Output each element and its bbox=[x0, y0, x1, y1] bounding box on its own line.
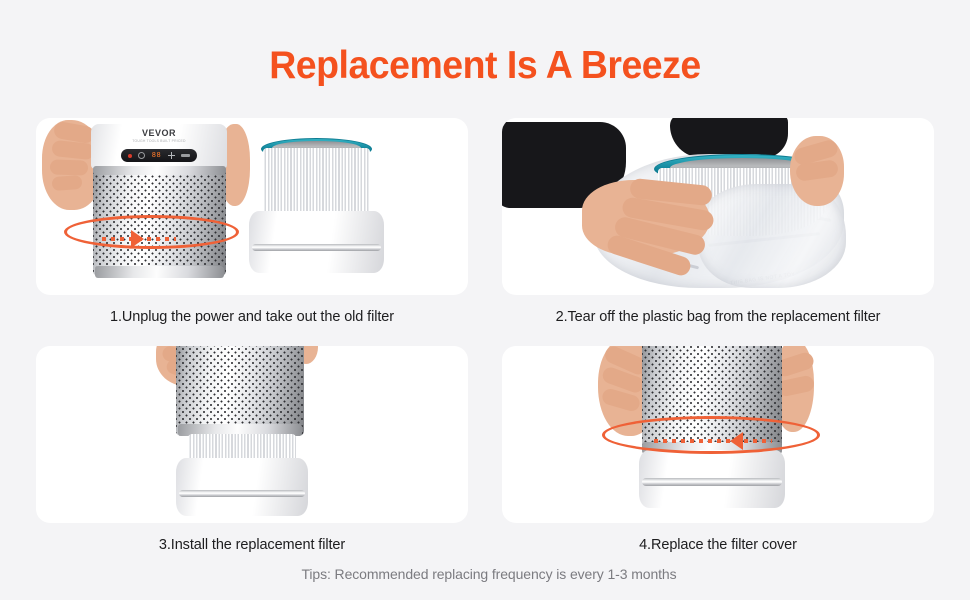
control-panel[interactable]: 88 bbox=[121, 149, 197, 162]
tips-text: Tips: Recommended replacing frequency is… bbox=[293, 566, 676, 582]
infographic-page: Replacement Is A Breeze VEVOR bbox=[0, 0, 970, 600]
step-3-caption: 3.Install the replacement filter bbox=[36, 537, 468, 553]
display-value: 88 bbox=[152, 152, 161, 159]
mesh-top-band bbox=[93, 166, 226, 175]
step-1-photo: VEVOR TOUGH TOOLS BUILT PRICED 88 bbox=[36, 118, 468, 295]
purifier-removal-scene: VEVOR TOUGH TOOLS BUILT PRICED 88 bbox=[36, 118, 468, 295]
base-chrome-ring bbox=[179, 490, 305, 497]
rotation-ellipse bbox=[602, 416, 820, 454]
base-chrome-ring bbox=[642, 478, 782, 486]
cover-rotation-scene bbox=[502, 346, 934, 523]
step-4-photo bbox=[502, 346, 934, 523]
rotation-ellipse bbox=[64, 215, 239, 249]
step-2-caption: 2.Tear off the plastic bag from the repl… bbox=[502, 309, 934, 325]
mesh-bottom-band bbox=[95, 266, 224, 278]
step-2: THIS BAG IS NOT A TOY bbox=[502, 118, 934, 325]
finger bbox=[50, 159, 89, 175]
step-1: VEVOR TOUGH TOOLS BUILT PRICED 88 bbox=[36, 118, 468, 325]
bag-removal-scene: THIS BAG IS NOT A TOY bbox=[502, 118, 934, 295]
step-4-caption: 4.Replace the filter cover bbox=[502, 537, 934, 553]
brand-tagline: TOUGH TOOLS BUILT PRICED bbox=[91, 140, 227, 143]
finger bbox=[52, 175, 83, 191]
filter-base bbox=[176, 458, 308, 516]
power-button-icon[interactable] bbox=[138, 152, 145, 159]
step-3-photo bbox=[36, 346, 468, 523]
rotation-arrow-icon bbox=[730, 432, 743, 450]
perforated-metal-cover bbox=[176, 346, 304, 436]
filter-install-scene bbox=[36, 346, 468, 523]
tips-note: Tips: Recommended replacing frequency is… bbox=[0, 566, 970, 582]
page-title: Replacement Is A Breeze bbox=[19, 44, 950, 88]
step-4: 4.Replace the filter cover bbox=[502, 346, 934, 553]
increase-icon[interactable] bbox=[168, 152, 175, 159]
decrease-icon[interactable] bbox=[181, 154, 190, 157]
rotation-dotted-line bbox=[654, 439, 772, 443]
step-2-photo: THIS BAG IS NOT A TOY bbox=[502, 118, 934, 295]
brand-logo: VEVOR bbox=[91, 129, 227, 138]
right-sleeve bbox=[670, 118, 788, 158]
rotation-arrow-icon bbox=[131, 230, 144, 248]
filter-base bbox=[249, 211, 384, 273]
step-1-caption: 1.Unplug the power and take out the old … bbox=[36, 309, 468, 325]
base-chrome-ring bbox=[252, 244, 381, 251]
step-3: 3.Install the replacement filter bbox=[36, 346, 468, 553]
power-indicator-icon bbox=[128, 154, 132, 158]
